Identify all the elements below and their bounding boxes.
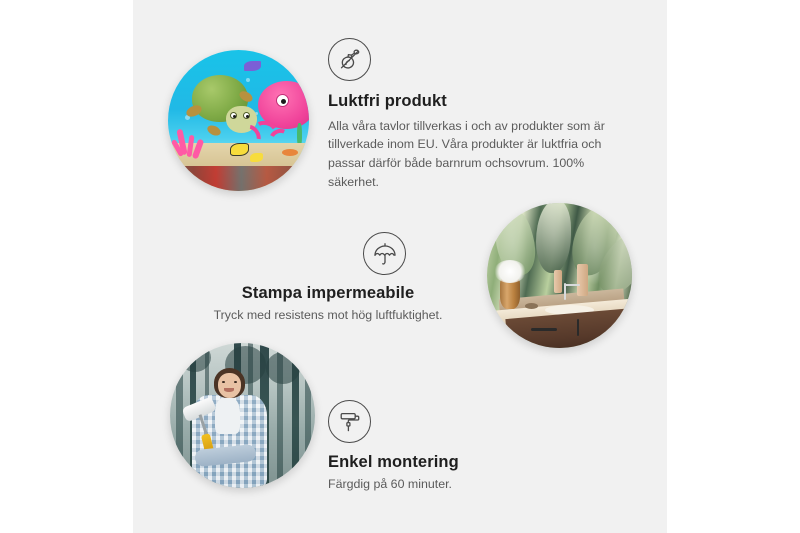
feature-description: Alla våra tavlor tillverkas i och av pro…	[328, 117, 628, 192]
content-canvas: Luktfri produkt Alla våra tavlor tillver…	[133, 0, 667, 533]
feature-block-odourless: Luktfri produkt Alla våra tavlor tillver…	[328, 38, 628, 192]
paint-roller-icon	[328, 400, 371, 443]
promo-infographic: Luktfri produkt Alla våra tavlor tillver…	[0, 0, 800, 533]
feature-description: Tryck med resistens mot hög luftfuktighe…	[183, 306, 473, 325]
feature-title: Enkel montering	[328, 452, 588, 473]
feature-block-waterproof: Stampa impermeabile Tryck med resistens …	[183, 232, 473, 324]
no-odour-perfume-icon	[328, 38, 371, 81]
feature-image-underwater-kids-mural	[168, 50, 309, 191]
feature-title: Stampa impermeabile	[183, 283, 473, 304]
feature-description: Färgdig på 60 minuter.	[328, 475, 588, 494]
feature-title: Luktfri produkt	[328, 91, 628, 112]
feature-image-woman-with-paint-roller-forest	[170, 343, 315, 488]
feature-image-bathroom-tropical-wallpaper	[487, 203, 632, 348]
umbrella-icon	[363, 232, 406, 275]
feature-block-easy-install: Enkel montering Färgdig på 60 minuter.	[328, 400, 588, 493]
